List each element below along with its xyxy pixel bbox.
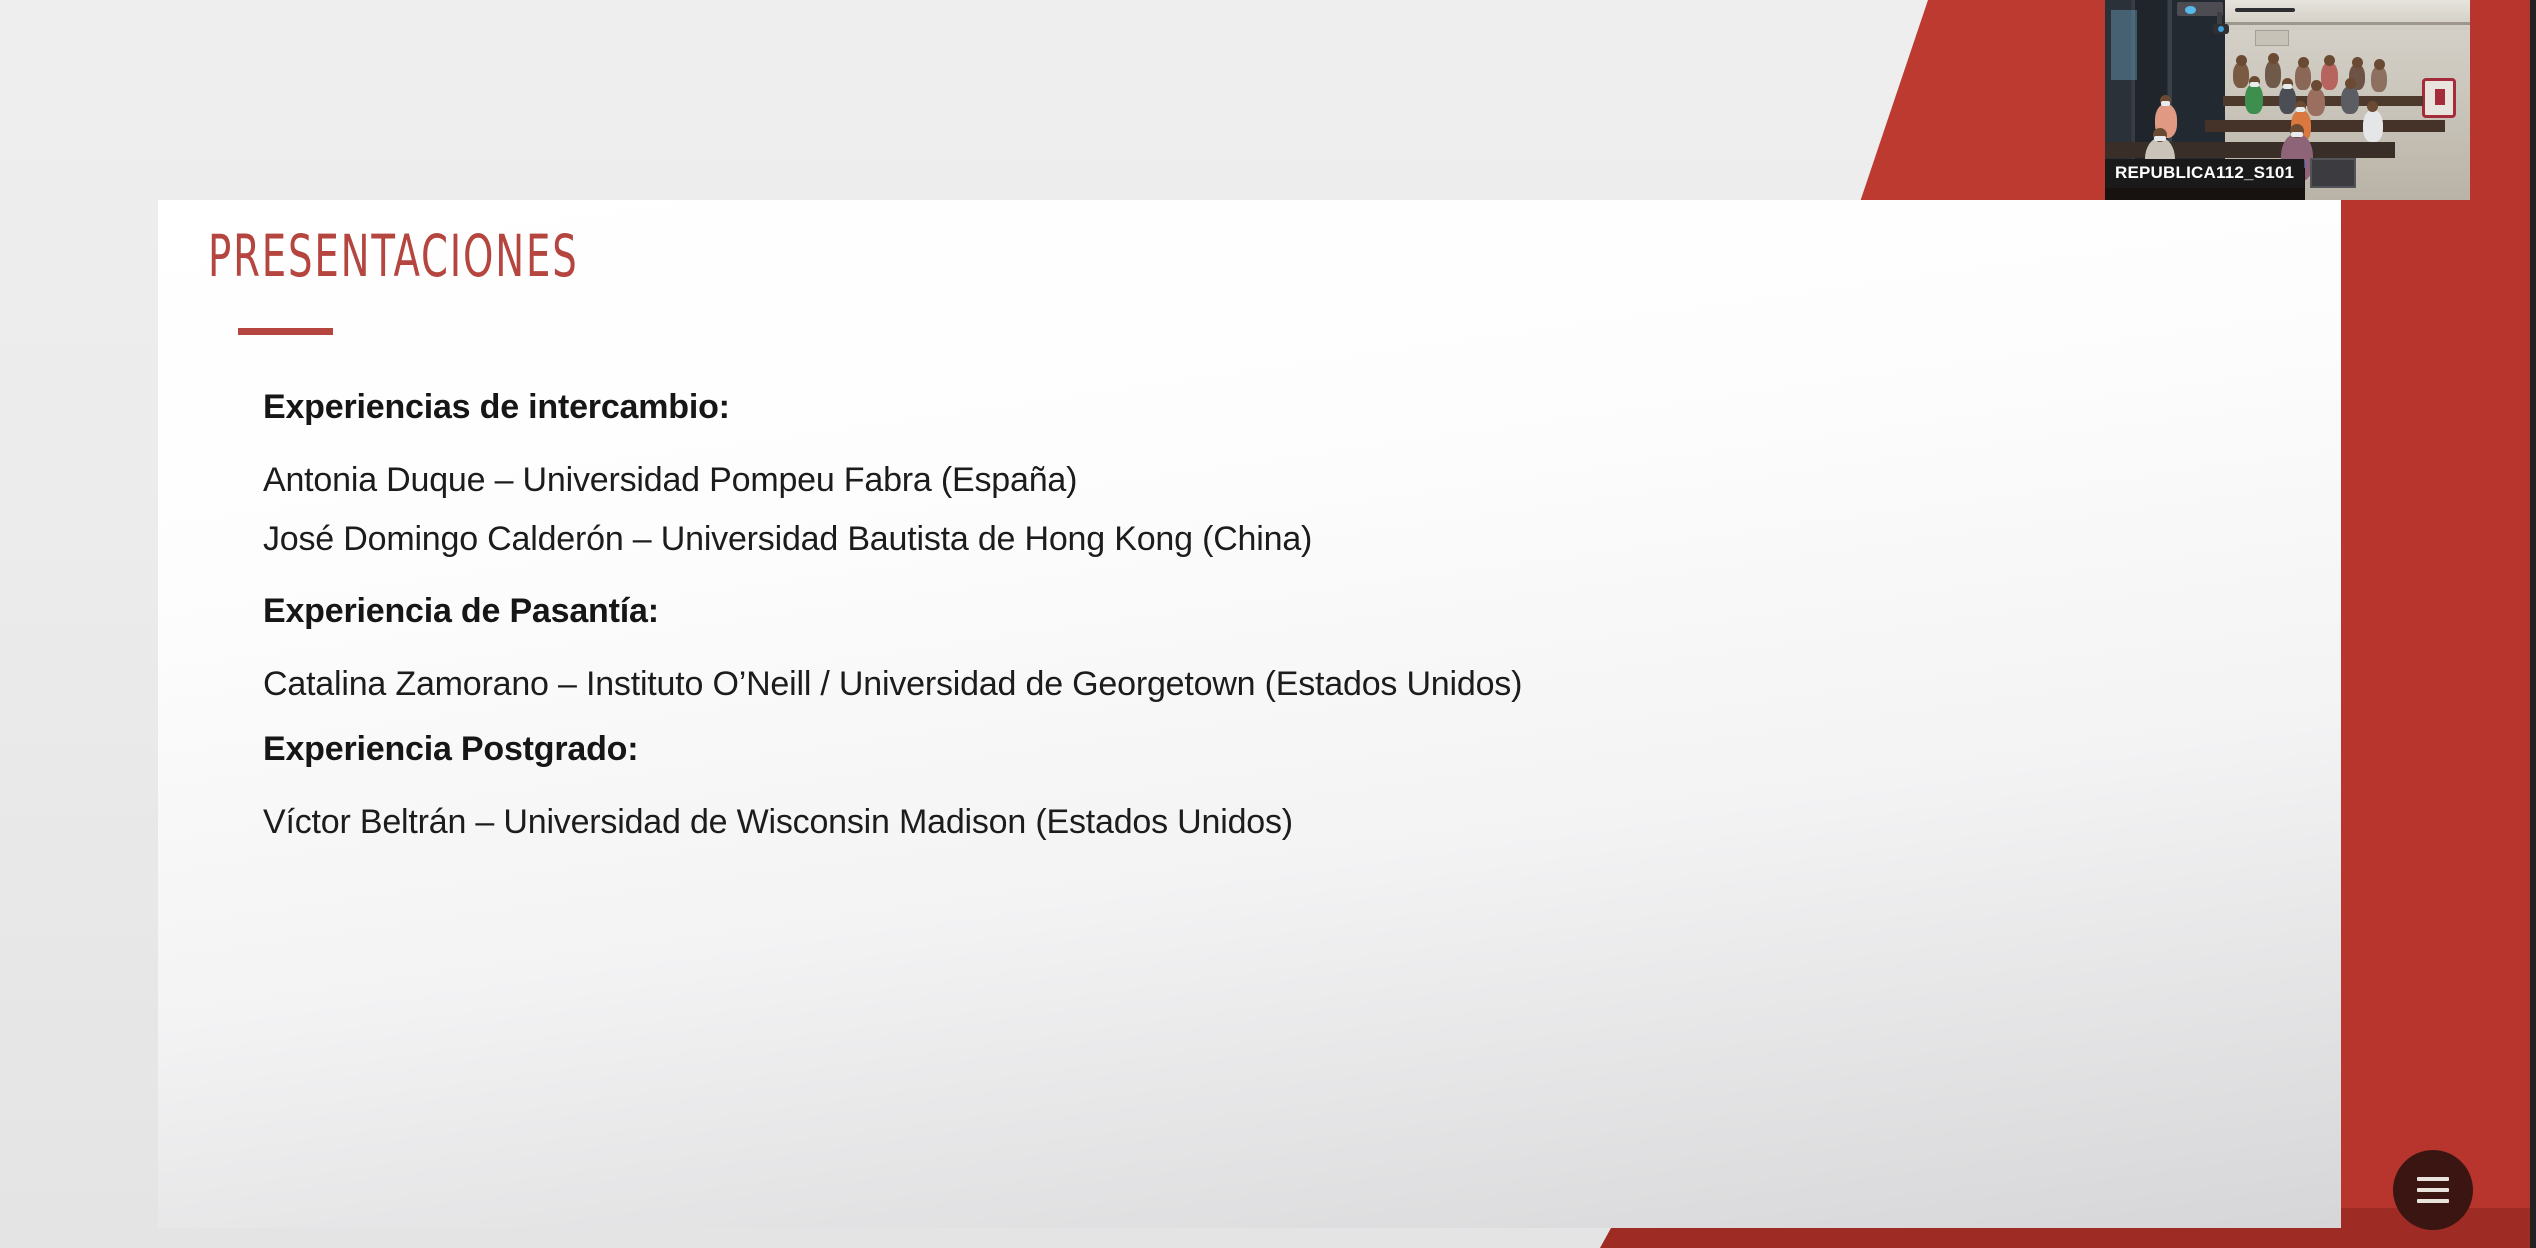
student-head [2367,101,2378,112]
spacer [263,769,1293,803]
red-panel-top [2470,0,2532,200]
spacer [263,427,1312,461]
face-mask-icon [2161,101,2170,106]
face-mask-icon [2291,132,2303,137]
ceiling-beam [2235,8,2295,12]
projector-lens-icon [2185,6,2196,14]
section-heading: Experiencias de intercambio: [263,388,1312,427]
air-conditioner [2255,30,2289,46]
student-head [2298,57,2309,68]
student-figure [2279,86,2296,114]
student-figure [2363,110,2383,142]
student-head [2268,53,2279,64]
student-figure [2245,84,2263,114]
section-block: Experiencia Postgrado: Víctor Beltrán – … [263,730,1293,842]
face-mask-icon [2250,82,2259,87]
projector-pod-light [2218,26,2224,32]
laptop [2310,158,2356,188]
section-block: Experiencias de intercambio: Antonia Duq… [263,388,1312,559]
student-head [2352,57,2363,68]
section-line: José Domingo Calderón – Universidad Baut… [263,520,1312,559]
spacer [263,631,1522,665]
student-figure [2341,86,2359,114]
student-figure [2321,62,2338,90]
student-head [2324,55,2335,66]
face-mask-icon [2296,107,2305,112]
face-mask-icon [2283,84,2292,89]
slide-panel: PRESENTACIONES Experiencias de intercamb… [158,200,2341,1228]
section-line: Antonia Duque – Universidad Pompeu Fabra… [263,461,1312,500]
section-block: Experiencia de Pasantía: Catalina Zamora… [263,592,1522,704]
section-line: Víctor Beltrán – Universidad de Wisconsi… [263,803,1293,842]
page-title: PRESENTACIONES [208,222,579,290]
hamburger-bar [2417,1188,2449,1192]
video-room-label: REPUBLICA112_S101 [2105,159,2304,188]
student-head [2311,80,2322,91]
classroom-riser-mid [2205,120,2445,132]
student-head [2345,78,2356,89]
title-underline-rule [238,328,333,335]
presentation-stage: REPUBLICA112_S101 PRESENTACIONES Experie… [0,0,2536,1248]
hamburger-menu-icon[interactable] [2393,1150,2473,1230]
face-mask-icon [2154,136,2166,141]
video-thumbnail[interactable]: REPUBLICA112_S101 [2105,0,2470,200]
right-edge-gutter [2530,0,2536,1248]
section-line: Catalina Zamorano – Instituto O’Neill / … [263,665,1522,704]
student-head [2236,55,2247,66]
section-heading: Experiencia Postgrado: [263,730,1293,769]
hamburger-bar [2417,1177,2449,1181]
student-head [2374,59,2385,70]
spacer [263,500,1312,520]
red-side-panel [2341,200,2532,1248]
student-figure [2307,88,2325,116]
student-figure [2265,60,2281,88]
university-seal-icon [2422,78,2456,118]
section-heading: Experiencia de Pasantía: [263,592,1522,631]
hamburger-bar [2417,1199,2449,1203]
